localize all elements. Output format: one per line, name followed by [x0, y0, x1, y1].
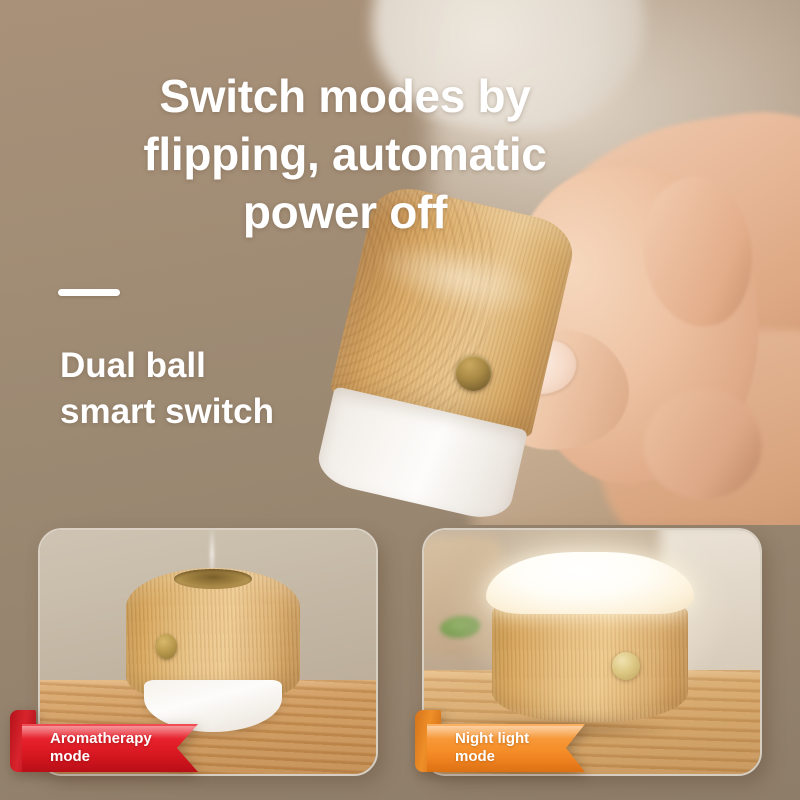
subtitle-line-2: smart switch — [60, 389, 274, 435]
diffuser-upright — [126, 568, 300, 732]
ribbon-label-line-2: mode — [50, 748, 152, 766]
headline-line-2: flipping, automatic — [0, 126, 690, 184]
diffuser-flipped — [486, 552, 694, 724]
ribbon-label: Aromatherapy mode — [50, 730, 152, 765]
ribbon-label-line-1: Aromatherapy — [50, 730, 152, 748]
ribbon-night-light-mode: Night light mode — [415, 724, 585, 772]
ribbon-label-line-1: Night light mode — [455, 730, 551, 765]
subtitle-line-1: Dual ball — [60, 343, 274, 389]
product-feature-banner: Switch modes by flipping, automatic powe… — [0, 0, 800, 800]
ribbon-aromatherapy-mode: Aromatherapy mode — [10, 724, 198, 772]
headline-line-1: Switch modes by — [0, 68, 690, 126]
brass-vent-ring-icon — [174, 569, 252, 589]
headline-line-3: power off — [0, 184, 690, 242]
subtitle: Dual ball smart switch — [60, 343, 274, 434]
brass-button-icon — [156, 634, 177, 659]
ribbon-label: Night light mode — [455, 730, 551, 765]
diffuser-wood-body — [492, 604, 688, 722]
page-title: Switch modes by flipping, automatic powe… — [0, 68, 690, 242]
divider — [58, 289, 120, 296]
brass-button-icon — [612, 652, 640, 680]
